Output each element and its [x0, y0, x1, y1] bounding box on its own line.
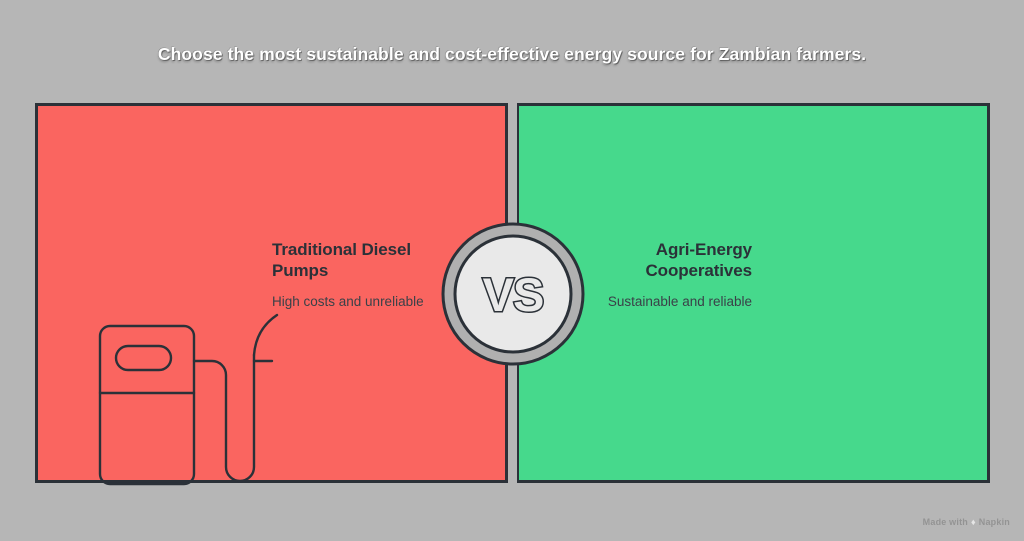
- right-option-text: Agri-Energy Cooperatives Sustainable and…: [582, 240, 752, 311]
- watermark-brand: Napkin: [979, 517, 1010, 527]
- watermark-prefix: Made with: [923, 517, 968, 527]
- fuel-pump-icon: [94, 304, 299, 496]
- watermark: Made with ♦ Napkin: [923, 517, 1010, 527]
- infographic-canvas: Choose the most sustainable and cost-eff…: [0, 0, 1024, 541]
- right-option-title: Agri-Energy Cooperatives: [582, 240, 752, 281]
- page-title: Choose the most sustainable and cost-eff…: [0, 44, 1024, 65]
- right-option-subtitle: Sustainable and reliable: [582, 293, 752, 311]
- diamond-icon: ♦: [971, 518, 976, 527]
- vs-badge: VS: [440, 221, 586, 367]
- left-option-subtitle: High costs and unreliable: [272, 293, 442, 311]
- vs-label: VS: [440, 221, 586, 367]
- left-option-text: Traditional Diesel Pumps High costs and …: [272, 240, 442, 311]
- left-option-title: Traditional Diesel Pumps: [272, 240, 442, 281]
